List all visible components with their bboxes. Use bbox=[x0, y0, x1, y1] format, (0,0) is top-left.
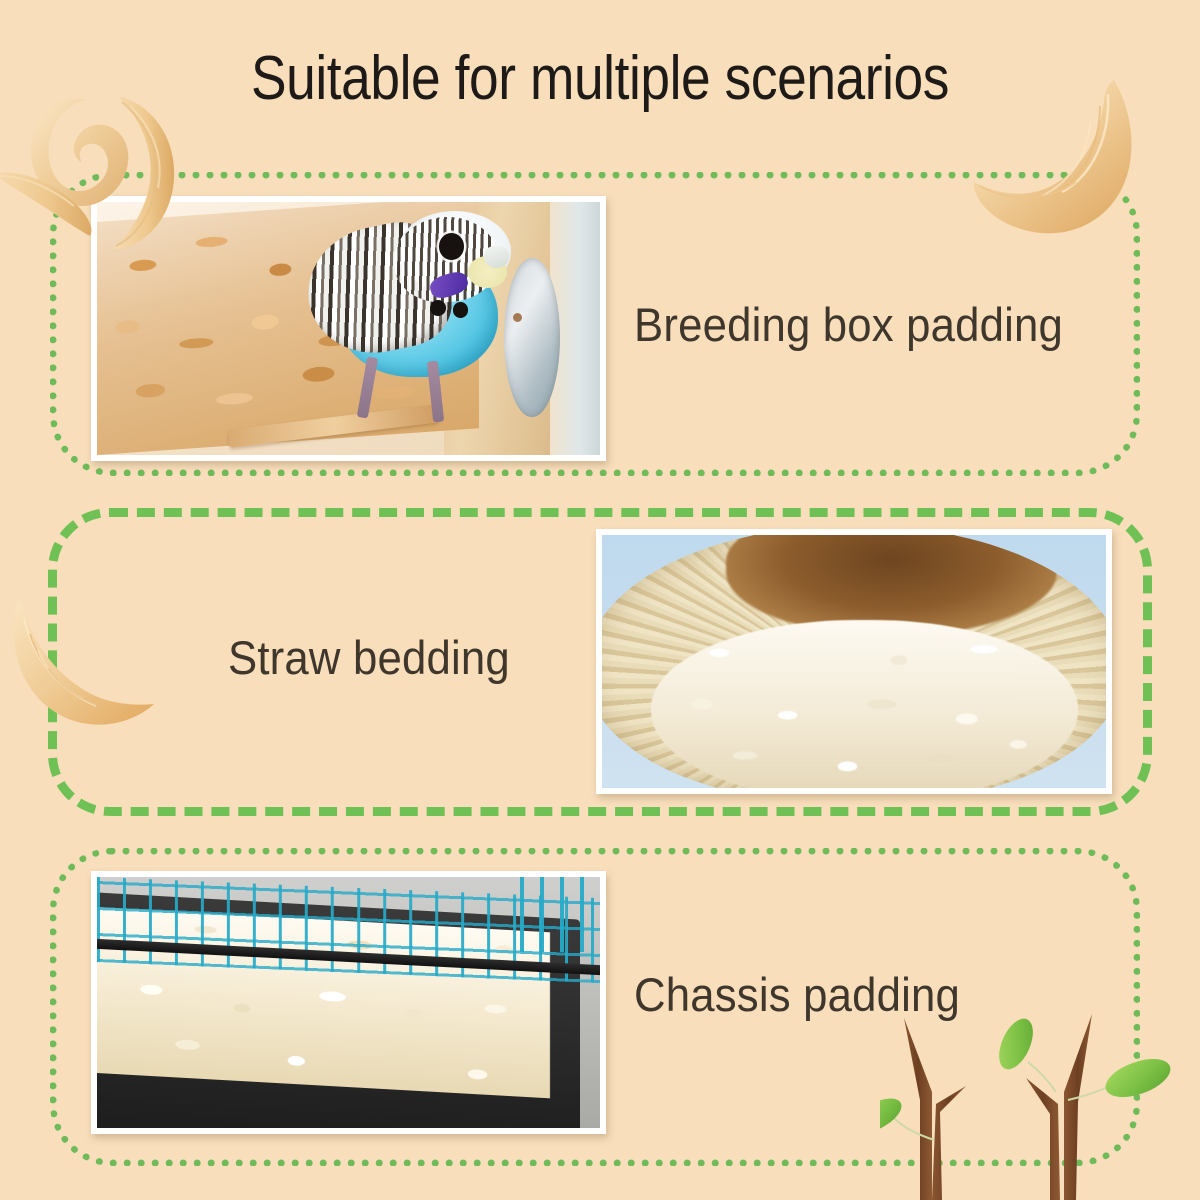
bird-beak bbox=[484, 246, 509, 268]
bird-throat-spot bbox=[430, 300, 446, 316]
cage-wire-mesh-side bbox=[520, 877, 600, 952]
scenario-label-straw-bedding: Straw bedding bbox=[228, 630, 510, 685]
scenario-image-breeding-box bbox=[91, 196, 606, 461]
scenario-label-breeding-box: Breeding box padding bbox=[634, 297, 1063, 352]
wood-shaving-fill bbox=[651, 620, 1078, 789]
page-title: Suitable for multiple scenarios bbox=[84, 46, 1116, 111]
budgerigar bbox=[303, 207, 529, 409]
straw-nest bbox=[602, 535, 1106, 788]
scenario-label-chassis-padding: Chassis padding bbox=[634, 967, 960, 1022]
infographic-canvas: Suitable for multiple scenarios bbox=[0, 0, 1200, 1200]
scenario-image-chassis-padding bbox=[91, 871, 606, 1134]
scenario-image-straw-bedding bbox=[596, 529, 1112, 794]
bird-leg bbox=[357, 356, 379, 418]
bird-eye bbox=[439, 233, 464, 259]
